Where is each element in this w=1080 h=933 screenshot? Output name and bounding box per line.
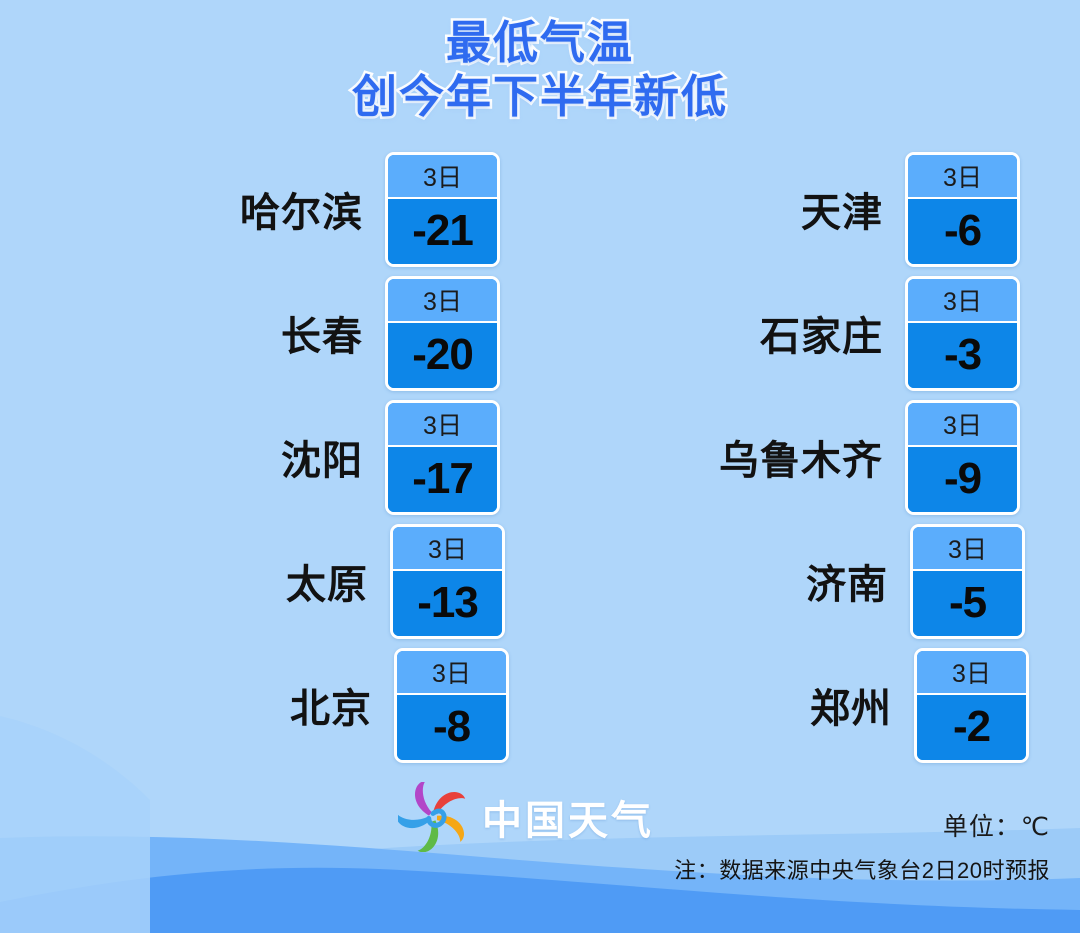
- table-row: 沈阳 3日 -17: [80, 398, 500, 516]
- city-label: 沈阳: [281, 428, 363, 486]
- card-temperature-value: -17: [388, 447, 497, 512]
- temperature-card[interactable]: 3日 -2: [914, 648, 1029, 763]
- card-date-label: 3日: [388, 279, 497, 323]
- card-temperature-value: -5: [913, 571, 1022, 636]
- card-temperature-value: -8: [397, 695, 506, 760]
- pinwheel-logo-icon: [398, 782, 468, 852]
- temperature-card[interactable]: 3日 -9: [905, 400, 1020, 515]
- city-label: 长春: [281, 304, 363, 362]
- temperature-card[interactable]: 3日 -6: [905, 152, 1020, 267]
- logo-text: 中国天气: [482, 788, 654, 846]
- city-label: 郑州: [810, 676, 892, 734]
- table-row: 郑州 3日 -2: [609, 646, 1029, 764]
- city-label: 石家庄: [760, 304, 883, 362]
- footer-notes: 单位：℃ 注：数据来源中央气象台2日20时预报: [674, 807, 1050, 885]
- card-temperature-value: -20: [388, 323, 497, 388]
- column-right: 天津 3日 -6 石家庄 3日 -3 乌鲁木齐 3日 -9 济南 3日 -5: [600, 148, 1020, 778]
- temperature-table: 哈尔滨 3日 -21 长春 3日 -20 沈阳 3日 -17 太原 3日 -1: [0, 148, 1080, 778]
- card-date-label: 3日: [908, 403, 1017, 447]
- card-date-label: 3日: [913, 527, 1022, 571]
- card-date-label: 3日: [388, 403, 497, 447]
- city-label: 北京: [290, 676, 372, 734]
- table-row: 太原 3日 -13: [85, 522, 505, 640]
- card-temperature-value: -9: [908, 447, 1017, 512]
- table-row: 济南 3日 -5: [605, 522, 1025, 640]
- table-row: 乌鲁木齐 3日 -9: [600, 398, 1020, 516]
- table-row: 长春 3日 -20: [80, 274, 500, 392]
- card-date-label: 3日: [908, 155, 1017, 199]
- card-temperature-value: -21: [388, 199, 497, 264]
- temperature-card[interactable]: 3日 -8: [394, 648, 509, 763]
- temperature-card[interactable]: 3日 -21: [385, 152, 500, 267]
- city-label: 太原: [286, 552, 368, 610]
- city-label: 哈尔滨: [240, 180, 363, 238]
- city-label: 济南: [806, 552, 888, 610]
- source-label: 注：数据来源中央气象台2日20时预报: [674, 853, 1050, 885]
- card-temperature-value: -2: [917, 695, 1026, 760]
- temperature-card[interactable]: 3日 -3: [905, 276, 1020, 391]
- card-date-label: 3日: [908, 279, 1017, 323]
- table-row: 石家庄 3日 -3: [600, 274, 1020, 392]
- card-temperature-value: -3: [908, 323, 1017, 388]
- page-title: 最低气温 创今年下半年新低: [0, 16, 1080, 124]
- card-date-label: 3日: [917, 651, 1026, 695]
- city-label: 天津: [801, 180, 883, 238]
- city-label: 乌鲁木齐: [719, 428, 883, 486]
- brand-logo: 中国天气: [398, 782, 654, 852]
- column-left: 哈尔滨 3日 -21 长春 3日 -20 沈阳 3日 -17 太原 3日 -1: [80, 148, 500, 778]
- unit-label: 单位：℃: [674, 807, 1050, 843]
- table-row: 哈尔滨 3日 -21: [80, 150, 500, 268]
- temperature-card[interactable]: 3日 -5: [910, 524, 1025, 639]
- title-line-secondary: 创今年下半年新低: [0, 70, 1080, 124]
- table-row: 北京 3日 -8: [89, 646, 509, 764]
- card-date-label: 3日: [388, 155, 497, 199]
- card-temperature-value: -13: [393, 571, 502, 636]
- temperature-card[interactable]: 3日 -17: [385, 400, 500, 515]
- title-line-primary: 最低气温: [0, 16, 1080, 70]
- table-row: 天津 3日 -6: [600, 150, 1020, 268]
- temperature-card[interactable]: 3日 -13: [390, 524, 505, 639]
- card-date-label: 3日: [397, 651, 506, 695]
- card-date-label: 3日: [393, 527, 502, 571]
- card-temperature-value: -6: [908, 199, 1017, 264]
- temperature-card[interactable]: 3日 -20: [385, 276, 500, 391]
